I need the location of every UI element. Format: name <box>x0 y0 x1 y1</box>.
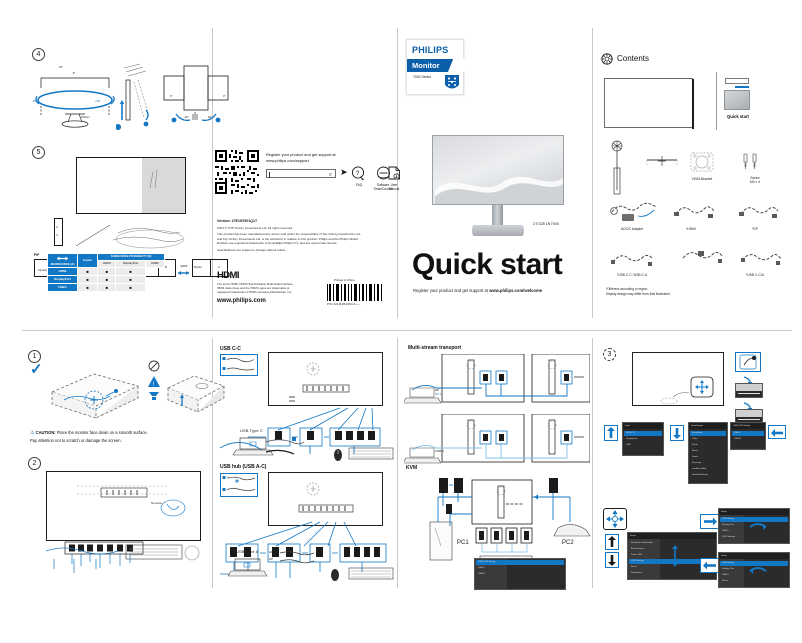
table-col-dp: DisplayPort <box>116 261 145 268</box>
usb-hub-device-label: USB Type A <box>236 549 259 554</box>
text-caret <box>269 172 270 178</box>
joystick-icon[interactable] <box>603 508 627 530</box>
osd-usb-confirm-row-label: USB Setting <box>720 561 788 566</box>
table-row: DisplayPort ■ ■ ■ <box>48 276 165 284</box>
monitor-stand-neck <box>492 205 503 227</box>
label-tilt-back: 20° <box>59 66 63 69</box>
osd-setup-header-bar: Setup <box>628 533 716 539</box>
table-row-label-usbc: USBC <box>48 284 78 292</box>
accessory-caption-adapter: AC/DC Adapter <box>610 227 654 231</box>
table-cell: ■ <box>98 276 116 284</box>
osd-picture-row-label: Movie <box>690 449 726 454</box>
osd-setup-header: Setup <box>628 533 716 539</box>
contents-note: *Different according to region. Display … <box>606 287 746 298</box>
table-inputs-header: Inputs <box>78 254 98 268</box>
barcode-number: P/N:321M1B19NUA---- <box>327 302 360 306</box>
step-2-diagrams: No screw <box>28 455 210 585</box>
osd-usb-setting-row-label: OSD Settings <box>720 535 788 540</box>
support-qr-code[interactable] <box>215 150 259 194</box>
label-zero-right: 0° <box>223 95 225 98</box>
pip-main-a-label: A(main) <box>38 269 47 272</box>
monitor-label: Monitor <box>407 59 465 72</box>
version-line: Version: 27E1N7901Q1T <box>217 219 367 223</box>
model-number: 27/32E1N7900 <box>533 222 559 226</box>
osd-input-row-label: DisplayPort <box>624 437 662 442</box>
label-pivot-left: -90° <box>184 116 189 119</box>
osd-input-header: Input <box>623 423 663 429</box>
legal-paragraph-3: Specifications are subject to change wit… <box>217 248 367 252</box>
osd-kvm-popup-row-label: USB-B <box>476 572 564 577</box>
user-manual-icon <box>387 166 402 181</box>
osd-input-row[interactable]: USB <box>624 443 662 448</box>
philips-wordmark: PHILIPS <box>412 45 448 55</box>
contents-note-line2: Display design may differ from that illu… <box>606 292 746 297</box>
legal-text-block: Version: 27E1N7901Q1T 2023 © TOP Victory… <box>217 219 367 252</box>
osd-usb-setting-header-bar: Setup <box>719 509 789 515</box>
subsource-possibility-table: MAINSOURCE (A) Inputs SUBSOURCE POSSIBIL… <box>47 253 165 292</box>
osd-usb-confirm-row[interactable]: Reset <box>720 579 788 584</box>
support-heading-line2: www.philips.com/support <box>266 158 336 164</box>
osd-picture-row[interactable]: EasyRead <box>690 431 726 436</box>
osd-picture-row[interactable]: Movie <box>690 449 726 454</box>
table-cell: ■ <box>98 268 116 276</box>
check-icon: ✓ <box>30 362 43 377</box>
osd-picture-row-label: Economy <box>690 461 726 466</box>
accessory-caption-vesa-bracket: VESA Bracket <box>684 177 720 181</box>
table-col-hdmi: HDMI <box>98 261 116 268</box>
table-cell: ■ <box>116 284 145 292</box>
pbp-b-label: B <box>165 266 167 269</box>
osd-input-row-label: HDMI 2.1 <box>624 431 662 436</box>
label-zero-left: 0° <box>170 95 172 98</box>
osd-usb-setting-row[interactable]: USB Setting <box>720 517 788 522</box>
mst-row2-port-label: USB C <box>435 449 444 453</box>
contents-quick-start-booklet: Quick start <box>716 72 756 130</box>
osd-picture-row[interactable]: Office <box>690 437 726 442</box>
osd-input-row[interactable]: DisplayPort <box>624 437 662 442</box>
osd-input-header-bar: Input <box>623 423 663 429</box>
divider-mid <box>22 330 792 331</box>
accessory-caption-usb-cc-ca: *USB C-C *USB C-A <box>600 273 664 277</box>
pbp-a2-label: A <box>218 266 220 269</box>
caution-line1: Place the monitor face down on a smooth … <box>56 430 148 435</box>
booklet-monitor-image <box>724 90 750 110</box>
label-swivel-right: +45° <box>95 100 100 103</box>
booklet-blue-bar <box>735 86 749 88</box>
legal-paragraph-1: 2023 © TOP Victory Investments Ltd. All … <box>217 226 367 230</box>
accessory-usb-cable-2 <box>680 246 726 275</box>
label-pivot-right: 90° <box>208 116 212 119</box>
arrow-right-icon: ➤ <box>340 168 348 177</box>
osd-kvm-row[interactable]: USB-B <box>732 437 764 442</box>
key-down-button-1[interactable] <box>670 425 684 441</box>
osd-input-row[interactable]: HDMI 2.1 <box>624 431 662 436</box>
monitor-panel <box>432 135 564 205</box>
label-swivel-left: -45° <box>32 100 37 103</box>
osd-picture-row-label: Game <box>690 455 726 460</box>
osd-kvm-popup-row[interactable]: USB-B <box>476 572 564 577</box>
search-icon[interactable]: ⌕ <box>329 172 332 178</box>
osd-kvm-popup-row[interactable]: USB KVM Setting <box>476 560 564 565</box>
osd-input-row-label: USB <box>624 443 662 448</box>
osd-kvm-row[interactable]: USB-C <box>732 431 764 436</box>
booklet-cover <box>725 78 749 84</box>
accessory-screws <box>740 152 760 179</box>
osd-picture-row[interactable]: Game <box>690 455 726 460</box>
legal-paragraph-2: This product has been manufactured by an… <box>217 232 367 245</box>
osd-usb-confirm-header: Setup <box>719 553 789 559</box>
support-heading: Register your product and get support at… <box>266 152 336 164</box>
accessory-caption-dp: *DP <box>744 227 766 231</box>
osd-input-menu[interactable]: Input HDMI 2.1 DisplayPort USB <box>622 422 664 456</box>
register-url: www.philips.com/welcome <box>489 288 542 293</box>
accessory-caption-hdmi: *HDMI <box>678 227 704 231</box>
usb-hub-port-dp-label: DP <box>269 557 273 561</box>
caution-line2: Pay attention not to scratch or damage t… <box>30 438 122 443</box>
osd-usb-setting-header: Setup <box>719 509 789 515</box>
table-cell: ■ <box>98 284 116 292</box>
accessory-power-cable <box>603 140 633 203</box>
monitor-screen-illustration <box>76 157 186 214</box>
table-row-label-hdmi: HDMI <box>48 268 78 276</box>
table-corner-label: MAINSOURCE (A) <box>48 254 78 268</box>
osd-picture-row-label: SmartUniformity <box>690 473 726 478</box>
table-row-label-dp: DisplayPort <box>48 276 78 284</box>
osd-usb-setting-row[interactable]: OSD Settings <box>720 535 788 540</box>
faq-icon: ? <box>351 166 366 181</box>
warning-icon: ⚠ <box>30 430 34 436</box>
monitor-stand-base <box>472 225 524 236</box>
usb-cc-keyboard-icon <box>348 446 396 462</box>
philips-product-badge: PHILIPS Monitor 7000 Series <box>406 39 464 95</box>
accessory-caption-screw: ScrewM4 x 4 <box>738 176 772 185</box>
hdmi-logo: HDMI <box>217 270 239 281</box>
usb-cc-monitor-screen <box>268 352 383 406</box>
osd-kvm-popup-row-label: USB-C <box>476 566 564 571</box>
label-tilt-front: -5° <box>72 72 75 75</box>
divider-col2-b <box>397 338 398 588</box>
osd-picture-menu[interactable]: SmartImage EasyRead Office Photo Movie G… <box>688 422 728 484</box>
label-screw-note: No screw <box>151 502 162 505</box>
usb-cc-title: USB C-C <box>220 346 241 352</box>
support-heading-line1: Register your product and get support at <box>266 152 336 158</box>
svg-text:PC1: PC1 <box>457 540 469 546</box>
mainsource-text: MAINSOURCE (A) <box>51 262 75 266</box>
key-up-button-2[interactable] <box>605 534 619 550</box>
accessory-vesa-plate <box>688 150 716 179</box>
usb-cc-cables <box>262 434 308 460</box>
osd-picture-row[interactable]: SmartUniformity <box>690 473 726 478</box>
quick-start-sheet: 4 20° -5° -45° +45° 150mm <box>0 0 802 643</box>
register-line: Register your product and get support at… <box>413 288 542 293</box>
key-left-button-1[interactable] <box>768 425 786 439</box>
caution-note: ⚠ CAUTION: Place the monitor face down o… <box>30 430 208 444</box>
accessory-caption-usb-cca: *USB C-C/A <box>730 273 780 277</box>
step3-osd-preview-1[interactable] <box>735 383 763 398</box>
mst-title: Multi-stream transport <box>408 345 461 351</box>
table-col-usbc: USBC <box>145 261 164 268</box>
svg-text:PC2: PC2 <box>562 540 574 546</box>
usb-hub-cables <box>278 548 318 566</box>
usb-hub-title: USB hub (USB A-C) <box>220 464 266 470</box>
osd-picture-header-bar: SmartImage <box>689 423 727 429</box>
key-up-button-1[interactable] <box>604 425 618 441</box>
search-input[interactable]: ⌕ <box>266 169 336 178</box>
divider-col3-b <box>592 338 593 588</box>
osd-picture-row[interactable]: Economy <box>690 461 726 466</box>
hdmi-legal-text: The terms HDMI, HDMI High-Definition Mul… <box>217 283 299 295</box>
osd-kvm-popup[interactable]: USB KVM Setting USB-C USB-B <box>474 558 566 590</box>
step3-joystick-button[interactable] <box>735 352 761 372</box>
printed-in-label: Printed in China <box>334 278 355 282</box>
usb-hub-legend <box>220 473 258 497</box>
philips-shield-icon <box>444 74 460 92</box>
swap-label-pbp: SWAP <box>176 265 192 268</box>
osd-kvm-row-label: USB-C <box>732 431 764 436</box>
contents-monitor-illustration <box>604 78 693 128</box>
kvm-title: KVM <box>406 465 417 471</box>
osd-usb-confirm-menu[interactable]: Setup USB Setting Display Port USB-C Res… <box>718 552 790 588</box>
table-row: USBC ■ ■ ■ <box>48 284 165 292</box>
contents-box-icon <box>601 53 613 65</box>
table-cell: ■ <box>116 268 145 276</box>
svg-text:?: ? <box>356 171 360 177</box>
barcode <box>327 284 383 301</box>
osd-picture-row[interactable]: LowBlue Mode <box>690 467 726 472</box>
osd-usb-setting-menu[interactable]: Setup USB Setting Display Port USB-C OSD… <box>718 508 790 544</box>
table-cell: ■ <box>116 276 145 284</box>
table-row: HDMI ■ ■ ■ <box>48 268 165 276</box>
usb-cc-legend <box>220 354 258 376</box>
key-right-button[interactable] <box>700 514 720 529</box>
pip-label: PIP <box>34 253 39 257</box>
label-height: 150mm <box>81 116 90 119</box>
step3-monitor-screen <box>632 352 724 406</box>
caution-prefix: CAUTION: <box>36 430 56 435</box>
table-cell: ■ <box>78 268 98 276</box>
philips-url: www.philips.com <box>217 298 266 304</box>
key-down-button-2[interactable] <box>605 552 619 568</box>
user-manual-caption: UserManual <box>380 183 408 192</box>
osd-picture-row[interactable]: Photo <box>690 443 726 448</box>
osd-picture-row-label: LowBlue Mode <box>690 467 726 472</box>
usb-hub-keyboard-icon <box>348 566 396 582</box>
osd-usb-confirm-row-label: Reset <box>720 579 788 584</box>
osd-usb-setting-row-label: USB Setting <box>720 517 788 522</box>
table-subsource-header: SUBSOURCE POSSIBILITY (B) <box>98 254 165 261</box>
monitor-rear-illustration: No screw <box>46 471 201 541</box>
usb-hub-laptop-icon <box>228 556 268 580</box>
osd-kvm-popup-row[interactable]: USB-C <box>476 566 564 571</box>
osd-usb-confirm-row[interactable]: USB Setting <box>720 561 788 566</box>
osd-kvm-popup-row-label: USB KVM Setting <box>476 560 564 565</box>
osd-picture-row-label: Photo <box>690 443 726 448</box>
osd-picture-header: SmartImage <box>689 423 727 429</box>
usb-hub-port-hdmi-label: HDMI <box>269 550 277 554</box>
series-label: 7000 Series <box>413 75 431 79</box>
step-4-diagrams: 20° -5° -45° +45° 150mm 0° 0° <box>32 48 210 140</box>
osd-usb-confirm-header-bar: Setup <box>719 553 789 559</box>
mst-laptop-1-icon <box>404 386 446 406</box>
page-title: Quick start <box>412 248 562 282</box>
osd-picture-row-label: EasyRead <box>690 431 726 436</box>
register-prefix: Register your product and get support at <box>413 288 489 293</box>
accessory-vesa-bracket <box>645 148 679 179</box>
booklet-caption: Quick start <box>721 114 755 119</box>
usb-cc-device-label: USB Type C <box>240 428 263 433</box>
key-left-button-2[interactable] <box>700 558 720 573</box>
mst-row1-port-sub: OUT <box>435 392 441 396</box>
osd-picture-row-label: Office <box>690 437 726 442</box>
osd-kvm-menu[interactable]: USB KVM Setting USB-C USB-B <box>730 422 766 450</box>
table-cell: ■ <box>78 284 98 292</box>
osd-kvm-row-label: USB-B <box>732 437 764 442</box>
step-3-number: 3 <box>603 348 616 361</box>
table-cell: ■ <box>78 276 98 284</box>
pbp-split-2 <box>210 259 211 277</box>
osd-kvm-header-bar: USB KVM Setting <box>731 423 765 429</box>
osd-kvm-header: USB KVM Setting <box>731 423 765 429</box>
pbp-b2-label: B(sub) <box>194 266 202 269</box>
contents-title: Contents <box>617 54 649 63</box>
divider-col3 <box>592 28 593 318</box>
